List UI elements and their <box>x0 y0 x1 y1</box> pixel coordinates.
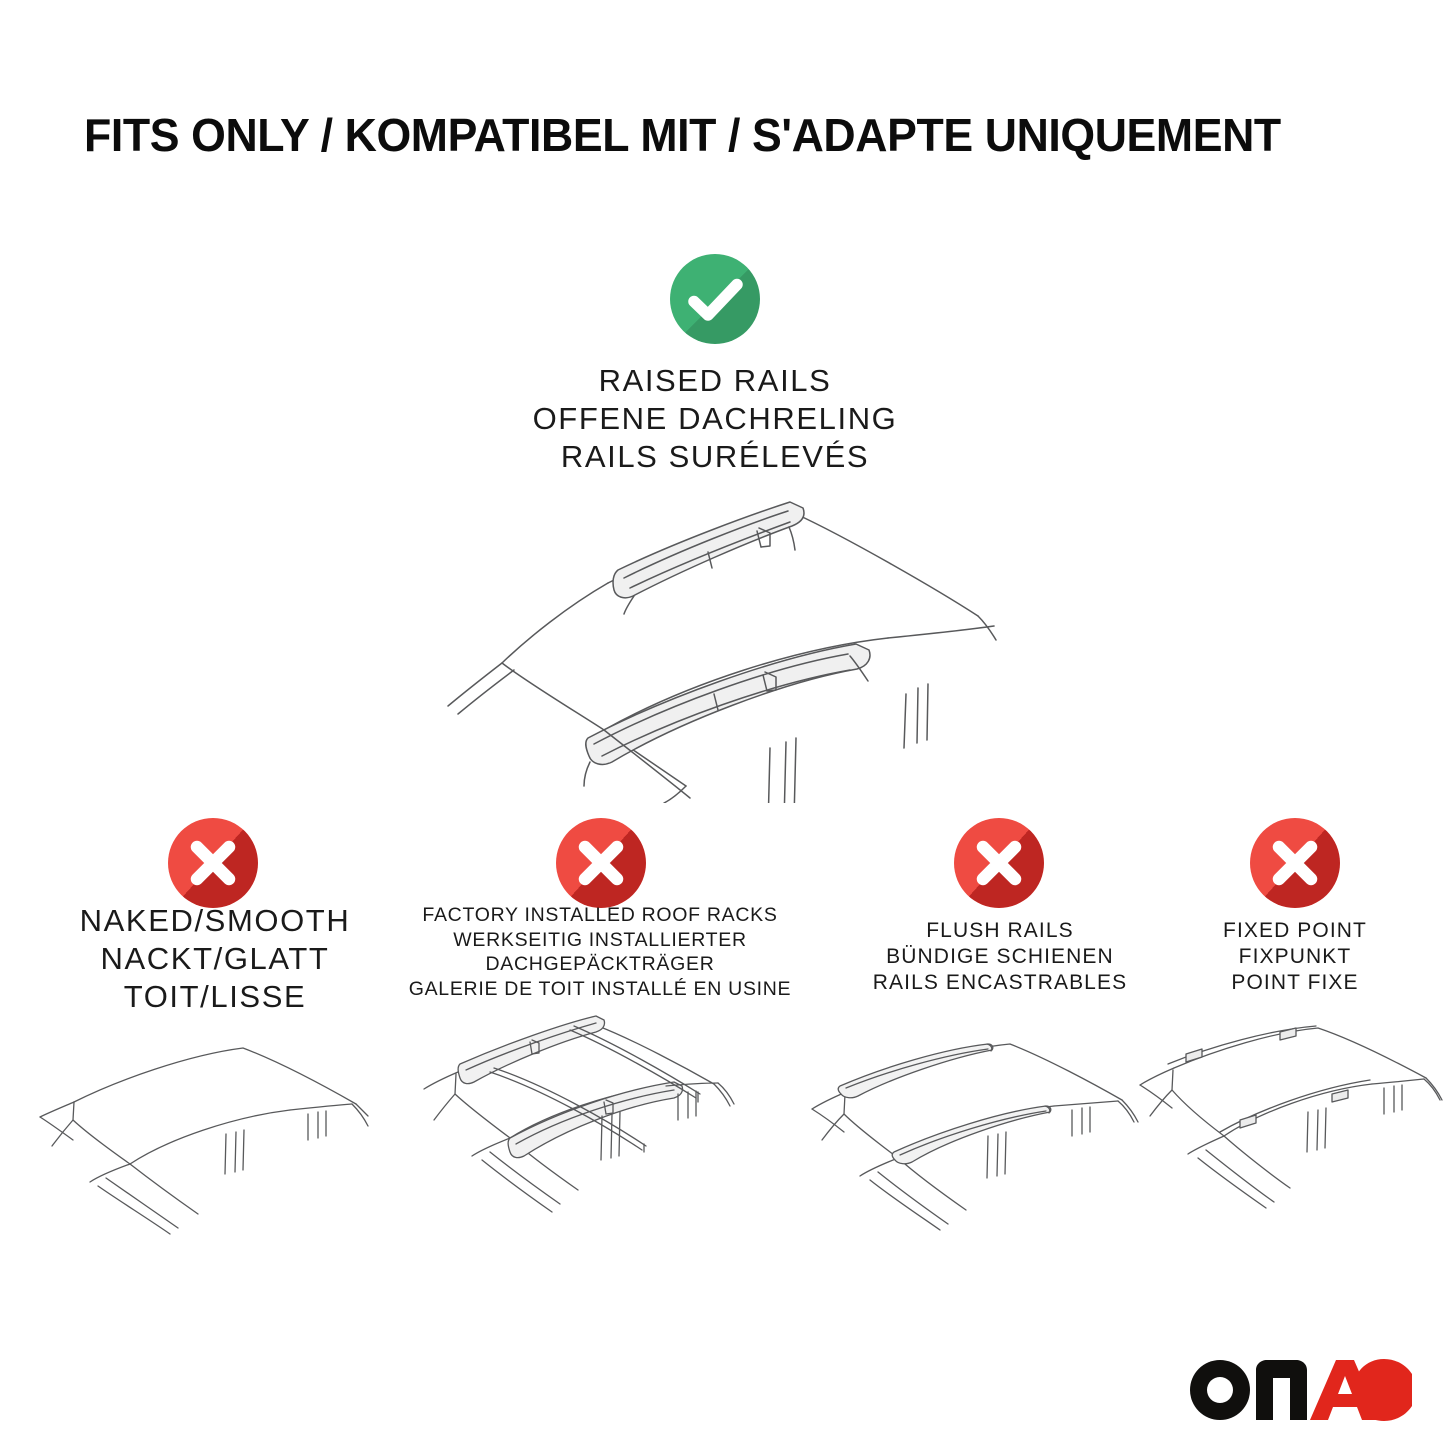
incompatible-2-line-3: DACHGEPÄCKTRÄGER <box>370 952 830 977</box>
incompatible-1-line-3: TOIT/LISSE <box>40 978 390 1016</box>
incompatible-3-line-3: RAILS ENCASTRABLES <box>830 970 1170 996</box>
incompatible-caption-2: FACTORY INSTALLED ROOF RACKS WERKSEITIG … <box>370 903 830 1001</box>
incompatible-caption-3: FLUSH RAILS BÜNDIGE SCHIENEN RAILS ENCAS… <box>830 918 1170 996</box>
cross-circle-icon <box>556 818 646 908</box>
incompatible-4-line-3: POINT FIXE <box>1150 970 1440 996</box>
compatible-caption: RAISED RAILS OFFENE DACHRELING RAILS SUR… <box>415 362 1015 476</box>
cross-circle-icon <box>1250 818 1340 908</box>
incompatible-caption-4: FIXED POINT FIXPUNKT POINT FIXE <box>1150 918 1440 996</box>
compatible-caption-line-3: RAILS SURÉLEVÉS <box>415 438 1015 476</box>
incompatible-4-line-1: FIXED POINT <box>1150 918 1440 944</box>
incompatible-3-line-2: BÜNDIGE SCHIENEN <box>830 944 1170 970</box>
fitment-compatibility-infographic: FITS ONLY / KOMPATIBEL MIT / S'ADAPTE UN… <box>0 0 1445 1445</box>
incompatible-2-line-4: GALERIE DE TOIT INSTALLÉ EN USINE <box>370 977 830 1002</box>
omac-logo <box>1186 1352 1412 1424</box>
car-roof-naked-smooth-illustration <box>18 1022 378 1242</box>
car-roof-factory-roof-racks-illustration <box>398 1012 760 1242</box>
incompatible-1-line-1: NAKED/SMOOTH <box>40 902 390 940</box>
compatible-caption-line-1: RAISED RAILS <box>415 362 1015 400</box>
incompatible-4-line-2: FIXPUNKT <box>1150 944 1440 970</box>
check-circle-icon <box>670 254 760 344</box>
compatible-caption-line-2: OFFENE DACHRELING <box>415 400 1015 438</box>
incompatible-caption-1: NAKED/SMOOTH NACKT/GLATT TOIT/LISSE <box>40 902 390 1016</box>
car-roof-flush-rails-illustration <box>788 1022 1150 1244</box>
cross-circle-icon <box>954 818 1044 908</box>
incompatible-2-line-1: FACTORY INSTALLED ROOF RACKS <box>370 903 830 928</box>
cross-circle-icon <box>168 818 258 908</box>
incompatible-2-line-2: WERKSEITIG INSTALLIERTER <box>370 928 830 953</box>
page-title: FITS ONLY / KOMPATIBEL MIT / S'ADAPTE UN… <box>84 108 1335 162</box>
incompatible-3-line-1: FLUSH RAILS <box>830 918 1170 944</box>
incompatible-1-line-2: NACKT/GLATT <box>40 940 390 978</box>
car-roof-fixed-point-illustration <box>1128 1020 1445 1242</box>
car-roof-raised-rails-illustration <box>418 498 1043 803</box>
